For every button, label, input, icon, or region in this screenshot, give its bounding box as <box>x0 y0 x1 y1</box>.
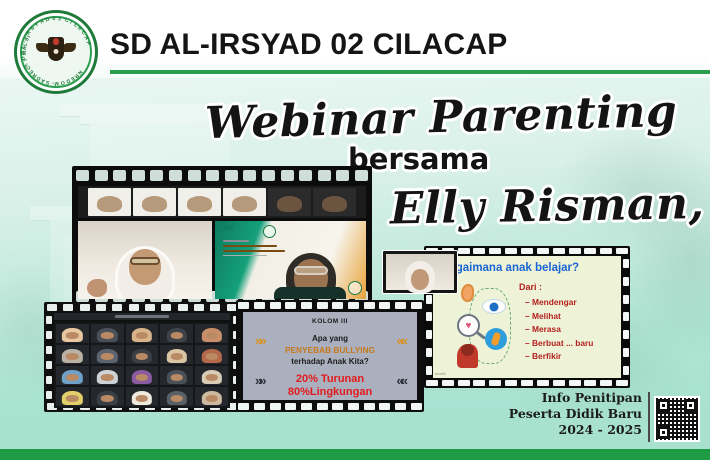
slide-kolom-bullying: »» «« »» «« KOLOM III Apa yang PENYEBAB … <box>236 300 424 412</box>
film-perforations-top <box>76 169 368 182</box>
brain-head-icon <box>457 342 481 368</box>
qr-code-icon[interactable] <box>654 396 700 442</box>
ear-icon <box>461 284 474 302</box>
chevron-right-icon: »» <box>255 334 263 347</box>
footer-divider <box>648 392 650 442</box>
kolom-question-line2: PENYEBAB BULLYING <box>285 345 375 355</box>
speaker-inset-video-tile <box>382 250 458 294</box>
film-perforations-bottom <box>424 379 630 387</box>
zoom-participant-thumbnail-strip <box>78 186 366 218</box>
page-title: SD AL-IRSYAD 02 CILACAP <box>110 28 507 62</box>
school-seal-icon: S D A L - I R S Y A D 0 2 C I L A C A P … <box>14 10 98 94</box>
slide-title: Bagaimana anak belajar? <box>441 262 579 274</box>
speaker-woman-video-tile <box>78 221 212 299</box>
list-item: – Berfikir <box>525 350 593 364</box>
list-item: – Melihat <box>525 310 593 324</box>
headline-speaker-name: Elly Risman, Psi <box>390 176 710 234</box>
activity-person-icon <box>485 328 507 350</box>
chevron-left-icon: «« <box>397 374 405 387</box>
zoom-toolbar <box>54 313 230 320</box>
kolom-answer-line1: 20% Turunan <box>296 373 364 385</box>
title-divider <box>110 70 710 74</box>
film-perforations-left <box>45 312 52 402</box>
film-perforations-bottom <box>236 402 424 411</box>
eye-icon <box>483 300 505 313</box>
poster-canvas: S D A L - I R S Y A D 0 2 C I L A C A P … <box>0 0 710 460</box>
footer-info-line1: Info Penitipan <box>509 390 642 406</box>
seal-icon <box>263 225 276 238</box>
glasses-icon <box>130 257 160 265</box>
slide-bagaimana-anak-belajar: Bagaimana anak belajar? Dari : – Mendeng… <box>424 246 630 388</box>
kolom-question-line1: Apa yang <box>312 334 348 343</box>
seal-icon <box>348 281 362 295</box>
list-item: – Berbuat ... baru <box>525 337 593 351</box>
bsi-logo-icon: BSI <box>223 226 232 232</box>
list-item: – Mendengar <box>525 296 593 310</box>
kolom-question-line3: terhadap Anak Kita? <box>291 357 369 366</box>
chevron-left-icon: «« <box>397 334 405 347</box>
logo-emblem-icon <box>36 37 76 67</box>
bottom-accent-bar <box>0 449 710 460</box>
film-perforations-top <box>44 303 240 312</box>
kolom-label: KOLOM III <box>312 318 348 325</box>
chevron-right-icon: »» <box>255 374 263 387</box>
zoom-gallery-participants-photo <box>44 302 240 412</box>
slide-subtitle: Dari : <box>519 282 542 292</box>
kolom-answer-line2: 80%Lingkungan <box>288 386 372 398</box>
glasses-icon <box>294 266 328 275</box>
footer-info-line3: 2024 - 2025 <box>509 422 642 438</box>
zoom-webinar-speakers-photo: BSI <box>72 166 372 306</box>
film-perforations-top <box>236 301 424 310</box>
footer-info-text: Info Penitipan Peserta Didik Baru 2024 -… <box>509 390 642 438</box>
slide-watermark: modin <box>435 371 446 376</box>
speaker-man-video-tile: BSI <box>215 221 366 299</box>
slide-bullet-list: – Mendengar – Melihat – Merasa – Berbuat… <box>525 296 593 364</box>
participant-tile-grid <box>54 322 230 408</box>
film-perforations-right <box>622 255 629 379</box>
footer-info-line2: Peserta Didik Baru <box>509 406 642 422</box>
list-item: – Merasa <box>525 323 593 337</box>
